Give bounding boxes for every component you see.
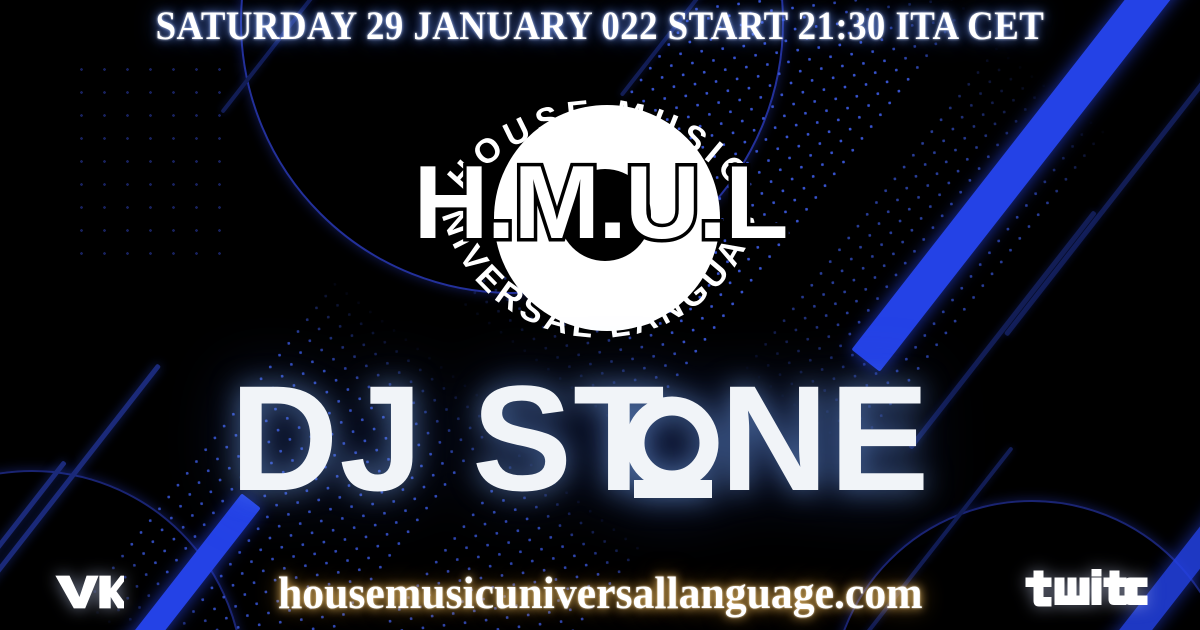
event-date-bar: SATURDAY 29 JANUARY 022 START 21:30 ITA … [0, 0, 1200, 50]
vk-logo-icon[interactable] [52, 570, 124, 614]
hmul-logo: HOUSE MUSIC UNIVERSAL LANGUAGE H.M.U.L [370, 60, 830, 380]
artist-name-ne: NE [720, 354, 930, 522]
artist-name-stylised-o [634, 406, 712, 498]
artist-name: DJ ST NE [0, 368, 1200, 518]
event-date-text: SATURDAY 29 JANUARY 022 START 21:30 ITA … [156, 2, 1045, 49]
footer-bar: housemusicuniversallanguage.com [0, 554, 1200, 630]
dot-grid-left [70, 58, 230, 273]
logo-monogram: H.M.U.L [413, 145, 786, 261]
website-url[interactable]: housemusicuniversallanguage.com [278, 566, 923, 619]
svg-text:H.M.U.L: H.M.U.L [413, 145, 786, 261]
artist-name-word-one: DJ [230, 354, 424, 522]
twitch-logo-icon[interactable] [1024, 569, 1152, 615]
event-flyer: SATURDAY 29 JANUARY 022 START 21:30 ITA … [0, 0, 1200, 630]
